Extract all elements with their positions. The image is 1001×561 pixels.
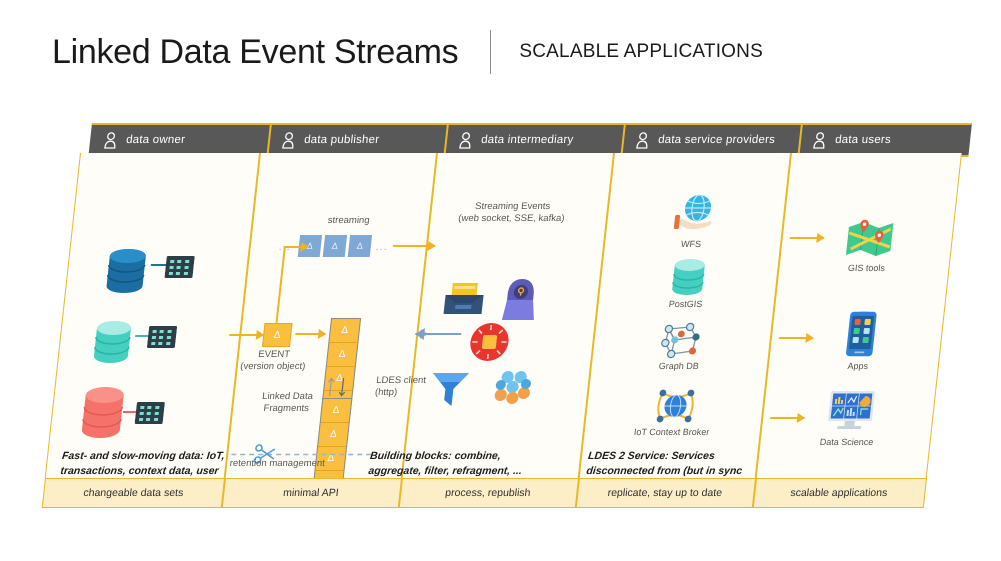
service-label-graph-db: Graph DB xyxy=(633,361,724,372)
column-separator xyxy=(401,153,438,478)
dashboard-monitor-icon xyxy=(823,389,880,433)
arrow-up-to-stream xyxy=(284,246,308,248)
connector-line xyxy=(151,264,167,266)
page-header: Linked Data Event Streams SCALABLE APPLI… xyxy=(52,26,763,78)
arrow-ldes-client-back xyxy=(404,321,463,347)
footer-label: changeable data sets xyxy=(83,487,184,499)
ldes-client-label-line2: (http) xyxy=(374,387,459,400)
streaming-events-label-line1: Streaming Events xyxy=(434,201,590,214)
footer-cell-data-service-providers: replicate, stay up to date xyxy=(575,479,755,507)
footer-label: process, republish xyxy=(445,487,532,499)
role-cell-data-owner: data owner xyxy=(89,125,270,155)
inbox-tray-icon xyxy=(441,281,487,317)
page-subtitle: SCALABLE APPLICATIONS xyxy=(519,41,763,63)
role-cell-data-intermediary: data intermediary xyxy=(444,125,624,155)
arrow-stream-to-intermediary xyxy=(393,245,435,247)
service-label-iot-context-broker: IoT Context Broker xyxy=(626,427,717,438)
smartphone-icon xyxy=(845,311,878,357)
chip-icon xyxy=(164,256,194,278)
value-chain-diagram: data owner data publisher data intermedi… xyxy=(0,118,1001,518)
caption-data-intermediary: Building blocks: combine, aggregate, fil… xyxy=(368,449,531,479)
database-teal-icon xyxy=(88,319,137,365)
arrow-to-data-science xyxy=(770,417,804,419)
role-label: data intermediary xyxy=(481,134,575,146)
person-icon xyxy=(103,132,118,149)
user-label-apps: Apps xyxy=(812,361,903,372)
role-cell-data-service-providers: data service providers xyxy=(621,125,801,155)
person-icon xyxy=(812,132,827,149)
footer-cell-data-publisher: minimal API xyxy=(221,479,401,507)
fragment-cell: Δ xyxy=(318,423,349,447)
user-label-gis-tools: GIS tools xyxy=(821,263,912,274)
page-title: Linked Data Event Streams xyxy=(52,33,458,72)
chip-icon xyxy=(147,326,177,348)
title-divider xyxy=(490,30,491,74)
streaming-label: streaming xyxy=(303,215,394,228)
chip-icon xyxy=(135,402,165,424)
footer-label: replicate, stay up to date xyxy=(607,487,723,499)
arrow-owner-to-publisher xyxy=(229,334,263,336)
footer-cell-data-users: scalable applications xyxy=(752,479,926,507)
diagram-body: Fast- and slow-moving data: IoT, transac… xyxy=(45,153,962,478)
role-label: data owner xyxy=(126,134,186,146)
role-label: data service providers xyxy=(658,134,776,146)
footer-cell-data-intermediary: process, republish xyxy=(398,479,578,507)
fragments-label-line2: Fragments xyxy=(248,403,323,416)
service-label-wfs: WFS xyxy=(645,239,736,250)
arrow-event-up xyxy=(275,246,285,324)
cubes-cluster-icon xyxy=(490,367,537,409)
iot-globe-icon xyxy=(651,385,700,427)
event-sublabel: (version object) xyxy=(225,361,320,374)
role-cell-data-users: data users xyxy=(798,125,972,155)
role-label: data publisher xyxy=(304,134,380,146)
person-icon xyxy=(635,132,650,149)
map-icon xyxy=(843,219,895,259)
outcomes-footer-band: changeable data sets minimal API process… xyxy=(42,478,927,508)
footer-label: scalable applications xyxy=(790,487,888,499)
ldes-client-label-line1: LDES client xyxy=(375,375,460,388)
user-label-data-science: Data Science xyxy=(801,437,892,448)
column-separator xyxy=(755,153,792,478)
footer-cell-data-owner: changeable data sets xyxy=(43,479,224,507)
role-cell-data-publisher: data publisher xyxy=(267,125,447,155)
fragment-cell: Δ xyxy=(321,399,352,423)
retention-management-label: retention management xyxy=(216,458,337,471)
streaming-right-ellipsis: ... xyxy=(375,241,388,253)
person-icon xyxy=(458,132,473,149)
red-dial-icon xyxy=(466,321,513,363)
column-separator xyxy=(224,153,261,478)
service-label-postgis: PostGIS xyxy=(640,299,731,310)
fragment-cell: Δ xyxy=(329,319,360,343)
fragment-cell: Δ xyxy=(327,343,358,367)
arrow-event-to-fragments xyxy=(295,333,325,335)
roles-header-band: data owner data publisher data intermedi… xyxy=(88,123,972,157)
fragment-up-down-arrows xyxy=(325,375,349,397)
stream-event-box: Δ xyxy=(348,235,372,257)
database-dark-blue-icon xyxy=(100,247,153,295)
event-label: EVENT xyxy=(236,349,311,362)
footer-label: minimal API xyxy=(282,487,339,499)
role-label: data users xyxy=(835,134,892,146)
hooded-person-icon xyxy=(500,277,541,321)
streaming-events-label-line2: (web socket, SSE, kafka) xyxy=(433,213,589,226)
fragments-label-line1: Linked Data xyxy=(250,391,325,404)
person-icon xyxy=(281,132,296,149)
globe-in-hand-icon xyxy=(667,193,724,237)
arrow-to-gis-tools xyxy=(790,237,824,239)
event-box: Δ xyxy=(262,323,293,347)
arrow-to-apps xyxy=(779,337,813,339)
database-cylinder-icon xyxy=(667,257,709,297)
graph-nodes-icon xyxy=(658,321,704,361)
stream-event-box: Δ xyxy=(323,235,347,257)
database-red-icon xyxy=(76,385,130,441)
